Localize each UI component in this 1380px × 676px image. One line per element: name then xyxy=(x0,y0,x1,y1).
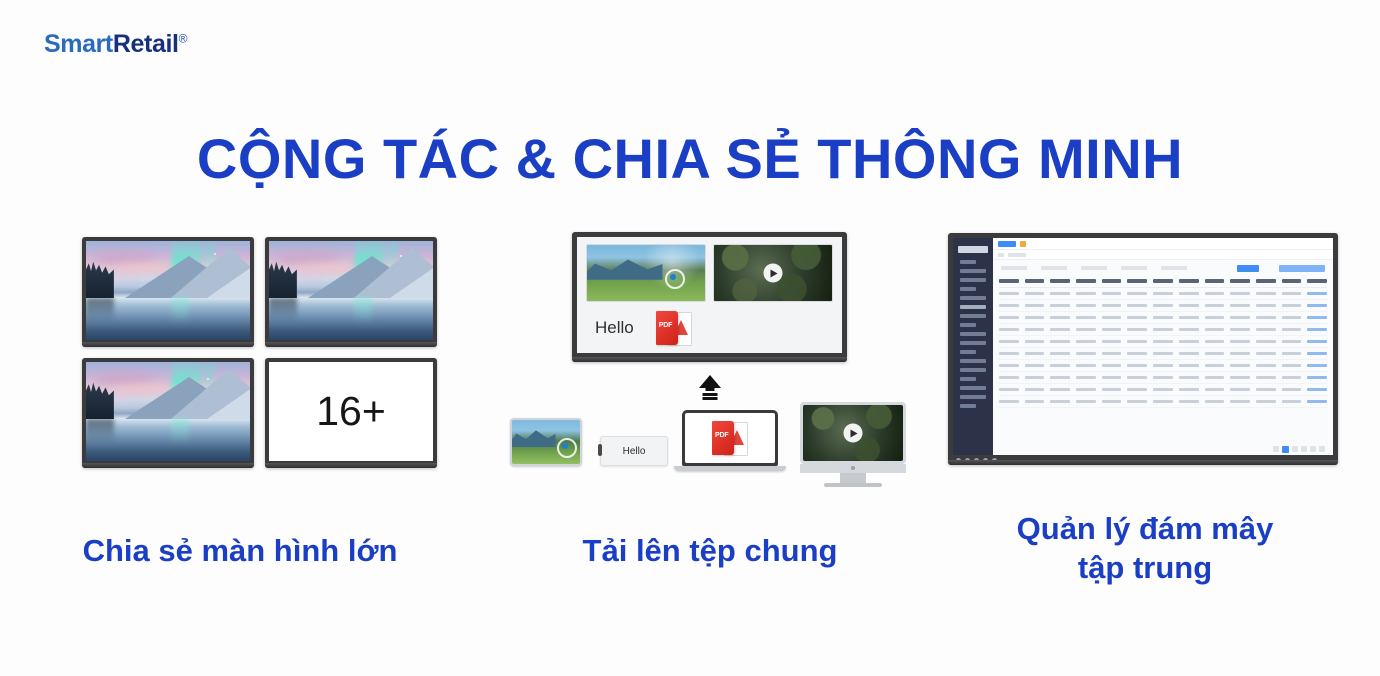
device-tablet xyxy=(510,418,582,466)
dashboard-logo xyxy=(958,246,988,253)
dashboard-main xyxy=(993,238,1333,455)
board-thumbnails xyxy=(586,244,833,302)
table-row[interactable] xyxy=(999,324,1327,336)
caption-cloud-line-2: tập trung xyxy=(930,549,1360,588)
wall-display-1-screen xyxy=(86,241,250,340)
wall-display-4-screen: 16+ xyxy=(269,362,433,461)
table-row[interactable] xyxy=(999,372,1327,384)
device-imac xyxy=(800,402,906,487)
feature-screen-sharing: 16+ Chia sẻ màn hình lớn xyxy=(30,215,450,635)
dashboard-sidebar xyxy=(953,238,993,455)
aurora-artwork xyxy=(86,241,250,340)
board-video-thumbnail xyxy=(713,244,833,302)
shared-board-screen: Hello PDF xyxy=(577,237,842,353)
dashboard-secondary-button[interactable] xyxy=(1279,265,1325,272)
caption-file-upload: Tải lên tệp chung xyxy=(500,532,920,571)
brand-part-2: Retail xyxy=(113,30,179,58)
feature-file-upload: Hello PDF Hello xyxy=(500,215,920,635)
dashboard-breadcrumb-bar xyxy=(993,238,1333,250)
pdf-file-icon: PDF xyxy=(712,421,748,455)
brand-part-1: Smart xyxy=(44,30,113,58)
dashboard-filter-bar xyxy=(993,260,1333,276)
play-icon xyxy=(844,424,863,443)
wall-display-4: 16+ xyxy=(265,358,437,468)
caption-cloud-management: Quản lý đám mây tập trung xyxy=(930,510,1360,588)
wall-display-3 xyxy=(82,358,254,468)
table-row[interactable] xyxy=(999,396,1327,408)
device-phone: Hello xyxy=(600,436,668,466)
upload-arrow-icon xyxy=(697,375,723,401)
device-laptop: PDF xyxy=(682,410,778,471)
board-text-item: Hello xyxy=(595,318,634,338)
table-header-row xyxy=(999,276,1327,288)
table-row[interactable] xyxy=(999,384,1327,396)
pdf-file-icon: PDF xyxy=(656,311,692,345)
camera-ring-icon xyxy=(665,269,685,289)
dashboard-display xyxy=(948,233,1338,465)
wall-display-2-screen xyxy=(269,241,433,340)
table-row[interactable] xyxy=(999,348,1327,360)
dashboard-table xyxy=(993,276,1333,443)
aurora-artwork xyxy=(86,362,250,461)
shared-board-display: Hello PDF xyxy=(572,232,847,362)
dashboard-tab-bar xyxy=(993,250,1333,260)
pdf-label: PDF xyxy=(715,432,728,439)
table-row[interactable] xyxy=(999,312,1327,324)
aurora-artwork xyxy=(269,241,433,340)
table-row[interactable] xyxy=(999,288,1327,300)
wall-display-2 xyxy=(265,237,437,347)
caption-cloud-line-1: Quản lý đám mây xyxy=(930,510,1360,549)
table-row[interactable] xyxy=(999,300,1327,312)
source-devices: Hello PDF xyxy=(500,410,920,480)
play-icon xyxy=(764,264,783,283)
wall-display-1 xyxy=(82,237,254,347)
trademark-symbol: ® xyxy=(179,32,187,46)
dashboard-pagination[interactable] xyxy=(993,443,1333,455)
page-title: CỘNG TÁC & CHIA SẺ THÔNG MINH xyxy=(0,126,1380,191)
feature-cloud-management: Quản lý đám mây tập trung xyxy=(930,215,1360,635)
feature-columns: 16+ Chia sẻ màn hình lớn xyxy=(0,215,1380,635)
table-row[interactable] xyxy=(999,360,1327,372)
camera-ring-icon xyxy=(557,438,577,458)
wall-display-3-screen xyxy=(86,362,250,461)
board-photo-thumbnail xyxy=(586,244,706,302)
display-control-buttons[interactable] xyxy=(956,458,997,463)
table-row[interactable] xyxy=(999,336,1327,348)
device-phone-text: Hello xyxy=(623,446,646,457)
video-wall: 16+ xyxy=(82,237,437,472)
brand-logo: SmartRetail® xyxy=(44,30,187,59)
pdf-label: PDF xyxy=(659,322,672,329)
dashboard-screen xyxy=(953,238,1333,455)
caption-screen-sharing: Chia sẻ màn hình lớn xyxy=(30,532,450,571)
dashboard-primary-button[interactable] xyxy=(1237,265,1259,272)
